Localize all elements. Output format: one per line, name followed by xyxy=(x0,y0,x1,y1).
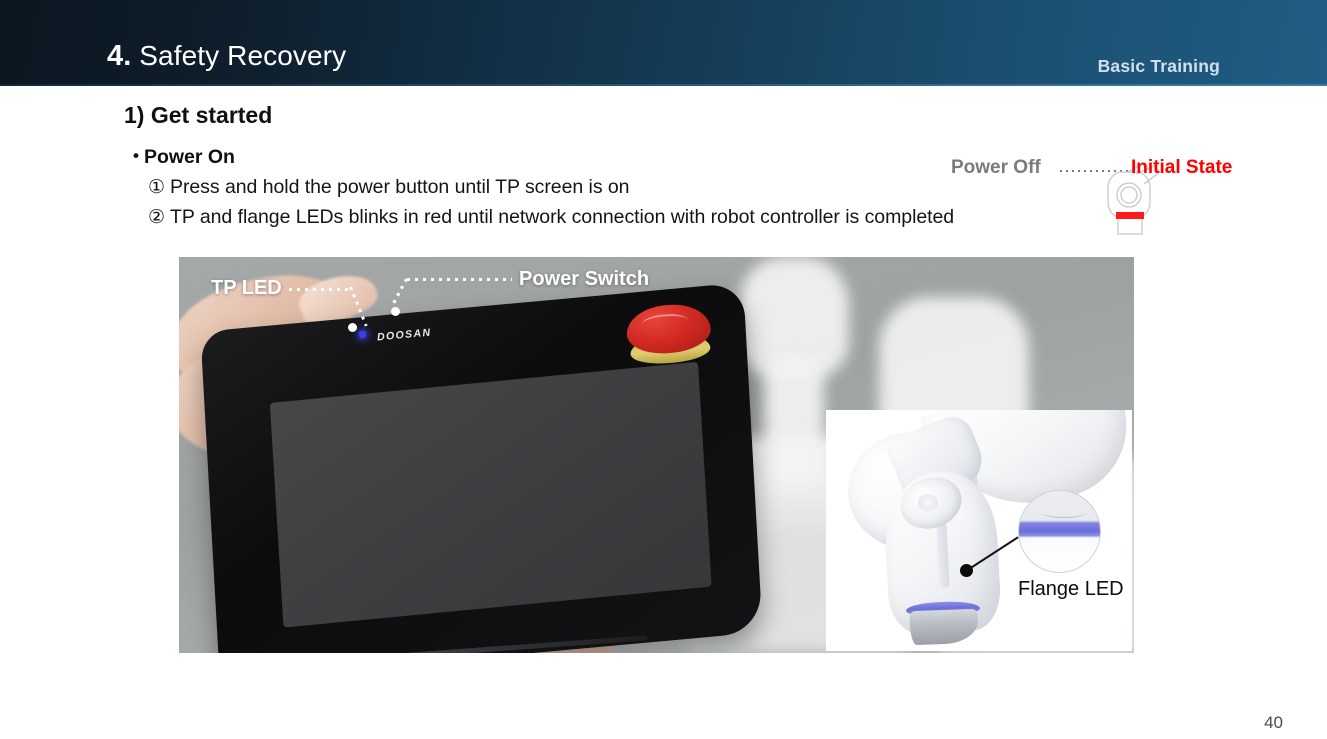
flange-led-label: Flange LED xyxy=(1018,578,1124,601)
flange-led-inset-panel: Flange LED xyxy=(826,410,1132,651)
bullet-power-on: •Power On xyxy=(133,146,235,169)
step-1-text: Press and hold the power button until TP… xyxy=(170,176,630,198)
bullet-dot-icon: • xyxy=(133,146,139,165)
leader-line-tp-led xyxy=(289,288,351,291)
page-number: 40 xyxy=(1264,713,1283,733)
step-item-1: ①Press and hold the power button until T… xyxy=(148,176,629,199)
page-title-number: 4. xyxy=(107,40,131,72)
circled-number-1-icon: ① xyxy=(148,176,165,199)
slide-header-bar: 4. Safety Recovery Basic Training xyxy=(0,0,1327,86)
page-title: 4. Safety Recovery xyxy=(107,40,346,73)
tp-led-indicator xyxy=(359,331,367,339)
power-off-label: Power Off xyxy=(951,157,1041,179)
leader-endpoint-power-switch xyxy=(391,307,400,316)
leader-line-power-switch xyxy=(407,278,512,281)
robot-flange-metal xyxy=(909,609,978,645)
bullet-power-on-label: Power On xyxy=(144,146,235,168)
leader-endpoint-tp-led xyxy=(348,323,357,332)
step-item-2: ②TP and flange LEDs blinks in red until … xyxy=(148,206,954,229)
step-2-text: TP and flange LEDs blinks in red until n… xyxy=(170,206,954,228)
flange-led-magnifier-circle xyxy=(1018,490,1101,573)
robot-arm-joint-cap-inner xyxy=(918,494,938,511)
header-subtitle: Basic Training xyxy=(1098,56,1220,77)
photo-label-power-switch: Power Switch xyxy=(519,268,649,291)
teach-pendant-screen[interactable] xyxy=(270,362,712,628)
circled-number-2-icon: ② xyxy=(148,206,165,229)
photo-label-tp-led: TP LED xyxy=(211,277,282,300)
section-heading: 1) Get started xyxy=(124,102,272,129)
emergency-stop-button[interactable] xyxy=(625,301,714,366)
initial-state-label: Initial State xyxy=(1131,157,1232,179)
leader-line-power-switch-diagonal xyxy=(390,278,408,308)
page-title-text: Safety Recovery xyxy=(139,40,346,71)
